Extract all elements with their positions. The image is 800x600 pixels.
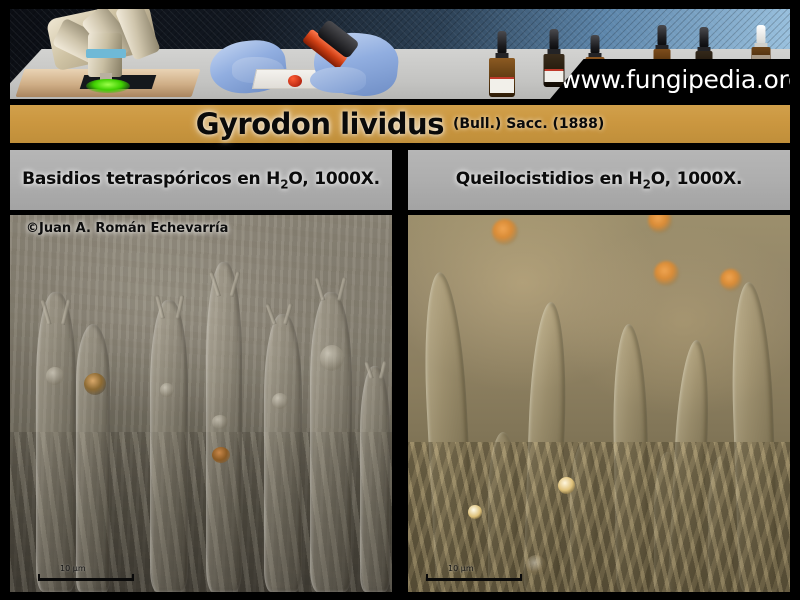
basidium bbox=[150, 300, 188, 592]
scale-bar-tick bbox=[132, 574, 134, 581]
caption-left-prefix: Basidios tetraspóricos en H bbox=[22, 169, 280, 189]
micrograph-panel-cheilocystidia: 10 µm bbox=[408, 215, 790, 592]
caption-bar-right: Queilocistidios en H2O, 1000X. bbox=[408, 150, 790, 210]
scale-bar-right: 10 µm bbox=[426, 564, 522, 581]
reagent-drop bbox=[288, 75, 302, 87]
caption-right-suffix: O, 1000X. bbox=[651, 169, 743, 189]
title-bar: Gyrodon lividus (Bull.) Sacc. (1888) bbox=[10, 105, 790, 143]
out-of-focus-spore bbox=[654, 261, 679, 286]
poster-root: www.fungipedia.org Gyrodon lividus (Bull… bbox=[0, 0, 800, 600]
bottle-cap bbox=[550, 29, 559, 49]
right-glove-fingers bbox=[310, 67, 366, 93]
species-authority: (Bull.) Sacc. (1888) bbox=[453, 116, 604, 132]
gloved-hands-photo bbox=[210, 27, 410, 99]
vacuole bbox=[320, 345, 344, 371]
scale-bar-tick bbox=[520, 574, 522, 581]
species-name: Gyrodon lividus bbox=[196, 107, 444, 141]
microscope-photo bbox=[16, 11, 216, 99]
out-of-focus-spore bbox=[720, 269, 742, 291]
vacuole bbox=[46, 367, 64, 385]
scale-bar-line bbox=[428, 578, 520, 581]
scale-bar-label: 10 µm bbox=[60, 564, 134, 573]
vacuole bbox=[272, 393, 288, 409]
caption-left-suffix: O, 1000X. bbox=[288, 169, 380, 189]
bottle-cap bbox=[757, 25, 766, 43]
basidium bbox=[360, 366, 390, 592]
vacuole bbox=[212, 415, 228, 429]
scale-bar-label: 10 µm bbox=[448, 564, 522, 573]
vacuole bbox=[212, 447, 230, 463]
caption-text-right: Queilocistidios en H2O, 1000X. bbox=[456, 169, 743, 191]
scale-bar-left: 10 µm bbox=[38, 564, 134, 581]
header-banner: www.fungipedia.org bbox=[10, 9, 790, 99]
copyright-notice: ©Juan A. Román Echevarría bbox=[26, 221, 228, 236]
caption-right-subscript: 2 bbox=[643, 177, 651, 191]
bottle-label bbox=[490, 77, 514, 93]
vacuole bbox=[160, 383, 174, 397]
scale-bar-graphic bbox=[38, 574, 134, 581]
bottle-cap bbox=[658, 25, 667, 45]
basidium bbox=[36, 292, 76, 592]
refractive-droplet bbox=[468, 505, 482, 519]
bottle-cap bbox=[591, 35, 600, 53]
bottle-cap bbox=[498, 31, 507, 53]
micrograph-panel-basidia: ©Juan A. Román Echevarría 10 µm bbox=[10, 215, 392, 592]
caption-bar-left: Basidios tetraspóricos en H2O, 1000X. bbox=[10, 150, 392, 210]
basidium bbox=[310, 292, 352, 592]
reagent-bottle-1 bbox=[485, 31, 519, 97]
out-of-focus-spore bbox=[492, 219, 518, 245]
basidium bbox=[76, 324, 110, 592]
refractive-droplet bbox=[558, 477, 575, 494]
vacuole bbox=[84, 373, 106, 395]
scale-bar-graphic bbox=[426, 574, 522, 581]
bottle-cap bbox=[700, 27, 709, 47]
website-url-tab[interactable]: www.fungipedia.org bbox=[550, 59, 790, 99]
reagent-bottle-2 bbox=[540, 29, 568, 87]
basidium bbox=[264, 314, 302, 592]
caption-text-left: Basidios tetraspóricos en H2O, 1000X. bbox=[22, 169, 380, 191]
caption-right-prefix: Queilocistidios en H bbox=[456, 169, 643, 189]
bottle-label bbox=[545, 69, 564, 82]
refractive-droplet bbox=[526, 555, 546, 575]
scale-bar-line bbox=[40, 578, 132, 581]
objective-lens-ring bbox=[86, 49, 126, 58]
microscope-light-glow bbox=[86, 79, 130, 93]
